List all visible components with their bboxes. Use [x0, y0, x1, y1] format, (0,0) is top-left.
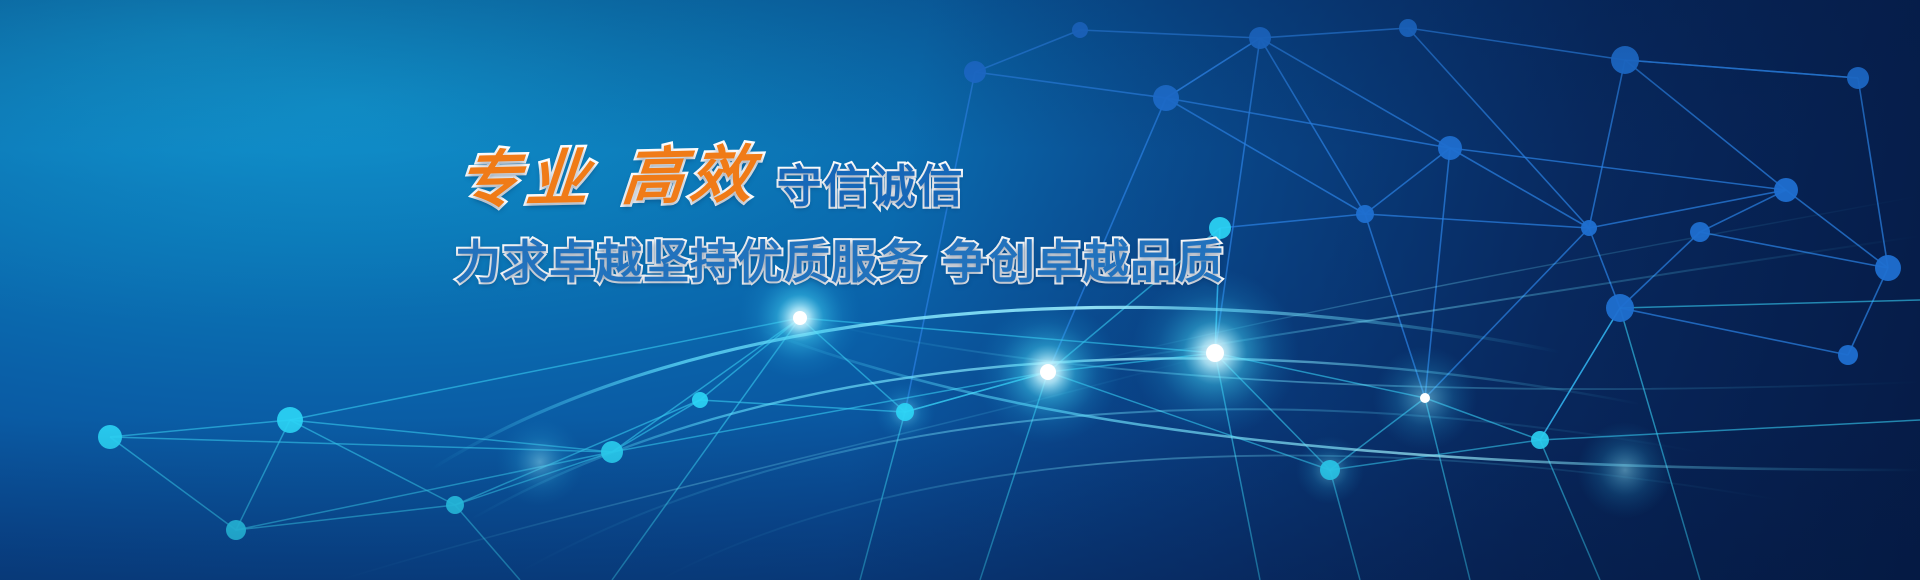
background-bottom-shade — [0, 0, 1920, 580]
promo-banner: 专业 高效 守信诚信 力求卓越坚持优质服务 争创卓越品质 — [0, 0, 1920, 580]
